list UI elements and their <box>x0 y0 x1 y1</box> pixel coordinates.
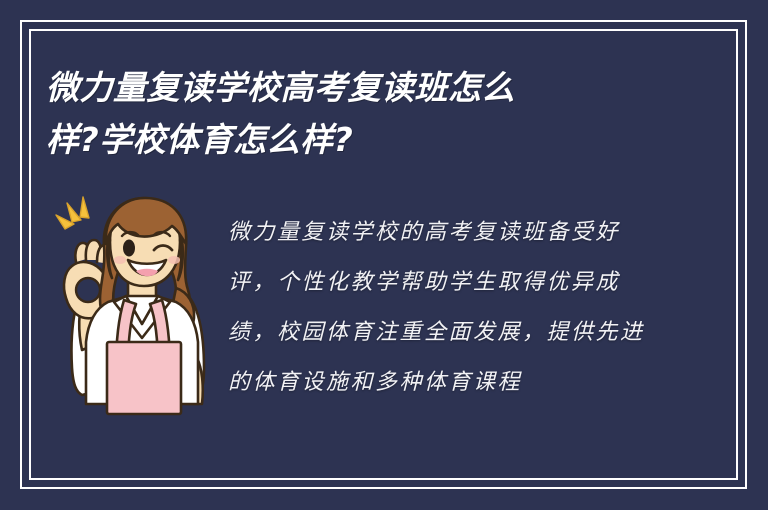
apron <box>107 342 181 414</box>
poster-canvas: 微力量复读学校高考复读班怎么 样?学校体育怎么样? 微力量复读学校的高考复读班备… <box>0 0 768 510</box>
eye-open <box>123 240 135 257</box>
girl-illustration <box>52 192 232 442</box>
body-paragraph: 微力量复读学校的高考复读班备受好评，个性化教学帮助学生取得优异成绩，校园体育注重… <box>228 208 648 408</box>
page-title: 微力量复读学校高考复读班怎么 样?学校体育怎么样? <box>46 62 646 166</box>
sparkle-icon <box>56 197 89 229</box>
